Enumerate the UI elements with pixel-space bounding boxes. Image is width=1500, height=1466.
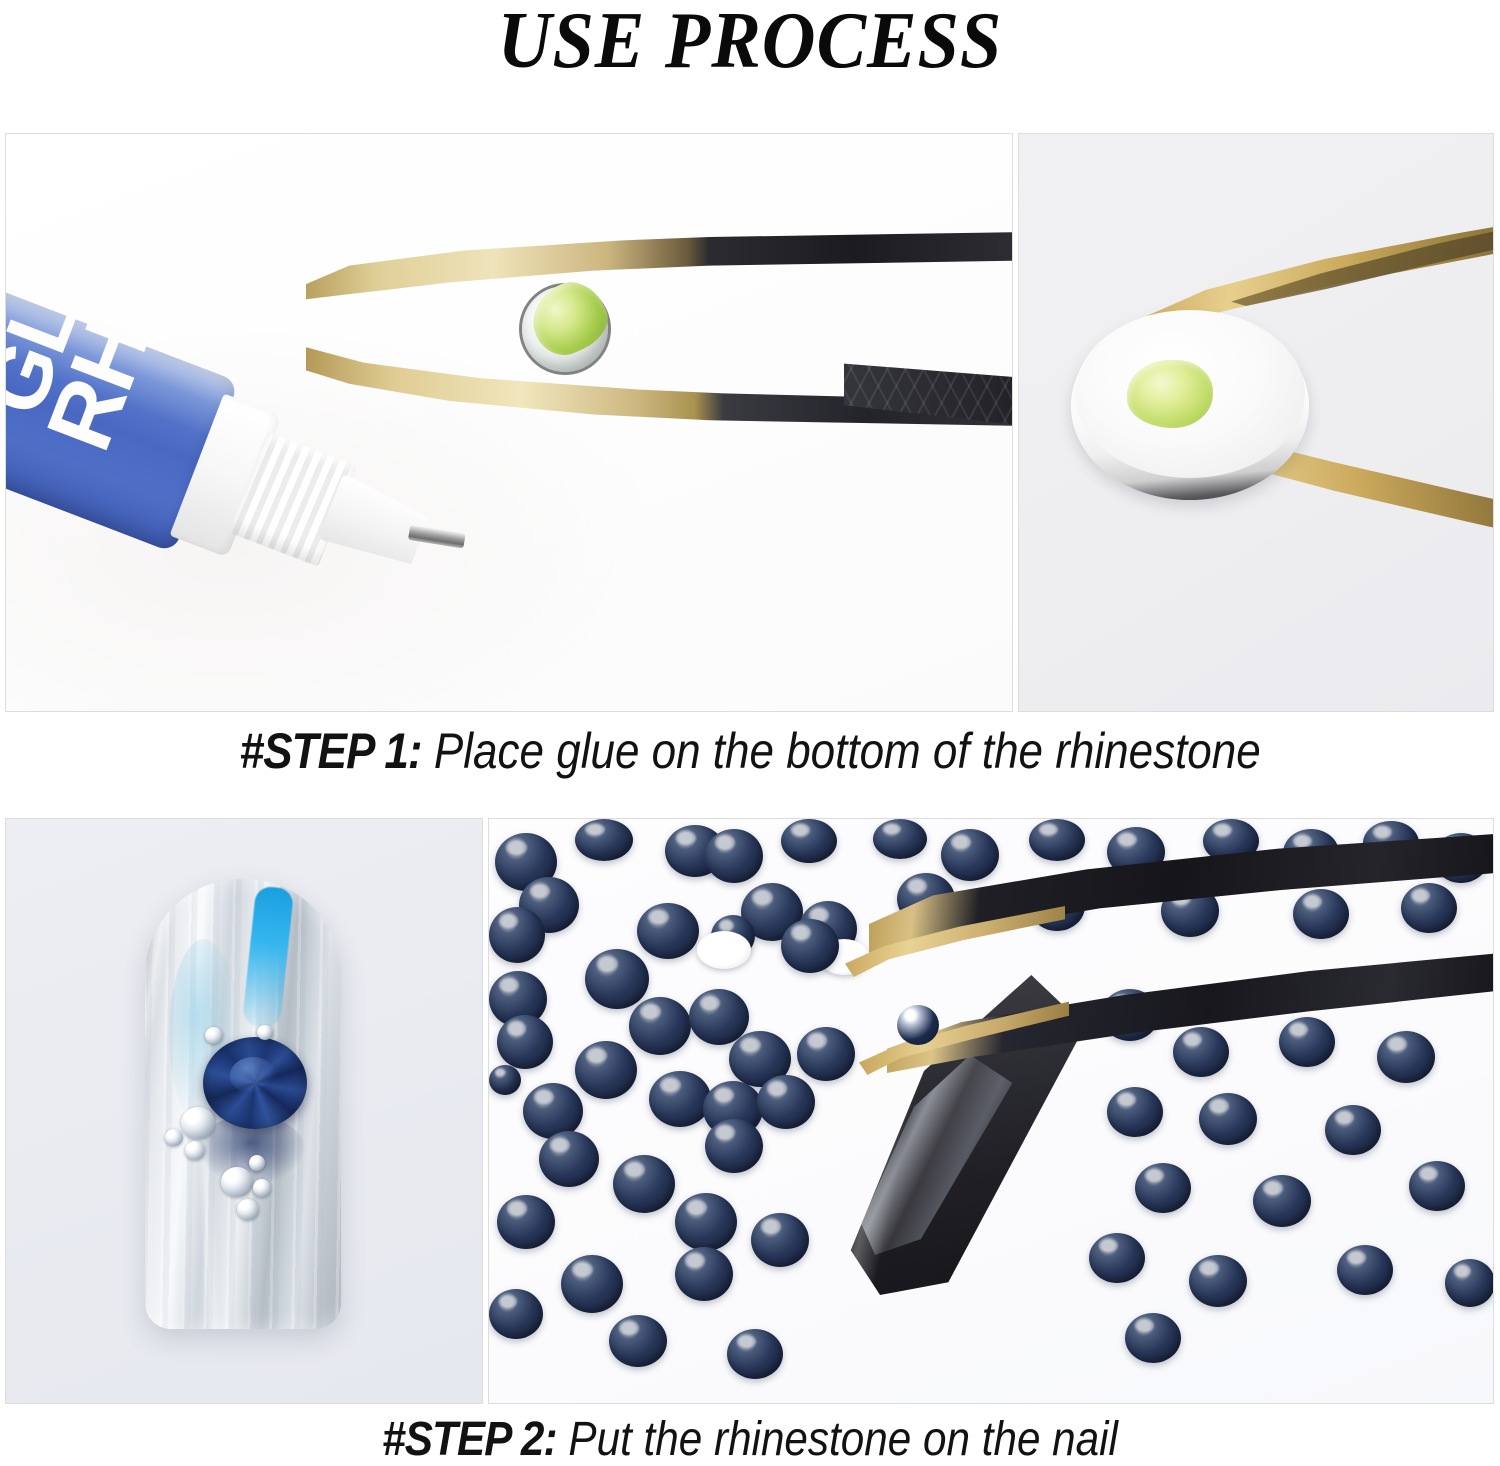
rhinestone [489, 1289, 543, 1339]
rhinestone [1135, 1163, 1191, 1213]
rhinestone [1337, 1245, 1393, 1295]
rhinestone [1089, 1233, 1145, 1283]
rhinestone [751, 1213, 809, 1267]
step-1-label: #STEP 1: [239, 723, 421, 779]
rhinestone [585, 949, 649, 1009]
glue-drop [1127, 360, 1213, 428]
step-2-image-row [5, 818, 1494, 1404]
step-2-caption: #STEP 2: Put the rhinestone on the nail [0, 1412, 1500, 1466]
rhinestone [1189, 1255, 1247, 1307]
step-2-text: Put the rhinestone on the nail [568, 1413, 1118, 1466]
rhinestone [497, 1195, 555, 1249]
rhinestone [613, 1155, 675, 1213]
silver-bead [237, 1199, 259, 1220]
rhinestone [539, 1131, 599, 1187]
rhinestone [797, 1027, 855, 1081]
rhinestone [675, 1247, 733, 1301]
step-1-caption: #STEP 1: Place glue on the bottom of the… [0, 722, 1500, 780]
silver-bead [249, 1155, 265, 1171]
rhinestone [1107, 1087, 1163, 1137]
rhinestone [941, 829, 999, 881]
rhinestone [575, 1041, 637, 1099]
step-1-image-row: GL RH [5, 133, 1494, 712]
held-rhinestone [897, 1005, 939, 1045]
rhinestone [675, 1193, 737, 1251]
page-title: USE PROCESS [53, 0, 1448, 87]
blue-accent-stripe [242, 885, 294, 1028]
rhinestone [637, 903, 699, 959]
rhinestone [1253, 1175, 1311, 1227]
rhinestone [497, 1015, 553, 1069]
rhinestone [629, 997, 691, 1055]
rhinestone [705, 1119, 763, 1173]
silver-bead [221, 1167, 253, 1197]
rhinestone-flat-back [489, 1065, 521, 1095]
rhinestones-and-tweezers-photo [488, 818, 1494, 1404]
step-1-text: Place glue on the bottom of the rhinesto… [434, 723, 1261, 779]
rhinestone [781, 919, 839, 973]
rhinestone [727, 1329, 783, 1379]
silver-bead [257, 1025, 273, 1040]
rhinestone [1409, 1161, 1465, 1211]
rhinestone [489, 907, 545, 963]
rhinestone [1293, 889, 1349, 939]
rhinestone-closeup-photo [1018, 133, 1494, 712]
navy-rhinestone [203, 1037, 307, 1129]
finished-nail-photo [5, 818, 483, 1404]
step-2-label: #STEP 2: [382, 1413, 557, 1466]
glue-application-photo: GL RH [5, 133, 1013, 712]
rhinestone [873, 819, 927, 859]
rhinestone [1445, 1259, 1494, 1307]
rhinestone [561, 1255, 623, 1313]
rhinestone [1199, 1093, 1257, 1145]
silver-bead [181, 1107, 215, 1139]
rhinestone [1325, 1105, 1381, 1155]
rhinestone [705, 829, 763, 883]
rhinestone [1125, 1313, 1181, 1363]
press-on-nail [145, 879, 341, 1329]
rhinestone [649, 1071, 711, 1127]
rhinestone [1401, 883, 1457, 933]
rhinestone [1029, 819, 1085, 861]
rhinestone [1173, 1027, 1229, 1077]
rhinestone [1377, 1031, 1435, 1083]
silver-bead [185, 1141, 205, 1160]
silver-bead [205, 1027, 223, 1044]
rhinestone [1279, 1017, 1335, 1067]
rhinestone-flat-back [697, 931, 751, 969]
silver-bead [165, 1129, 183, 1146]
rhinestone [757, 1075, 815, 1129]
rhinestone [781, 819, 837, 863]
use-process-instruction-graphic: USE PROCESS GL RH [0, 0, 1500, 1466]
glue-label-text-line-2: RH [42, 312, 157, 459]
silver-bead [253, 1179, 271, 1197]
rhinestone [609, 1315, 667, 1367]
rhinestone [575, 819, 633, 861]
